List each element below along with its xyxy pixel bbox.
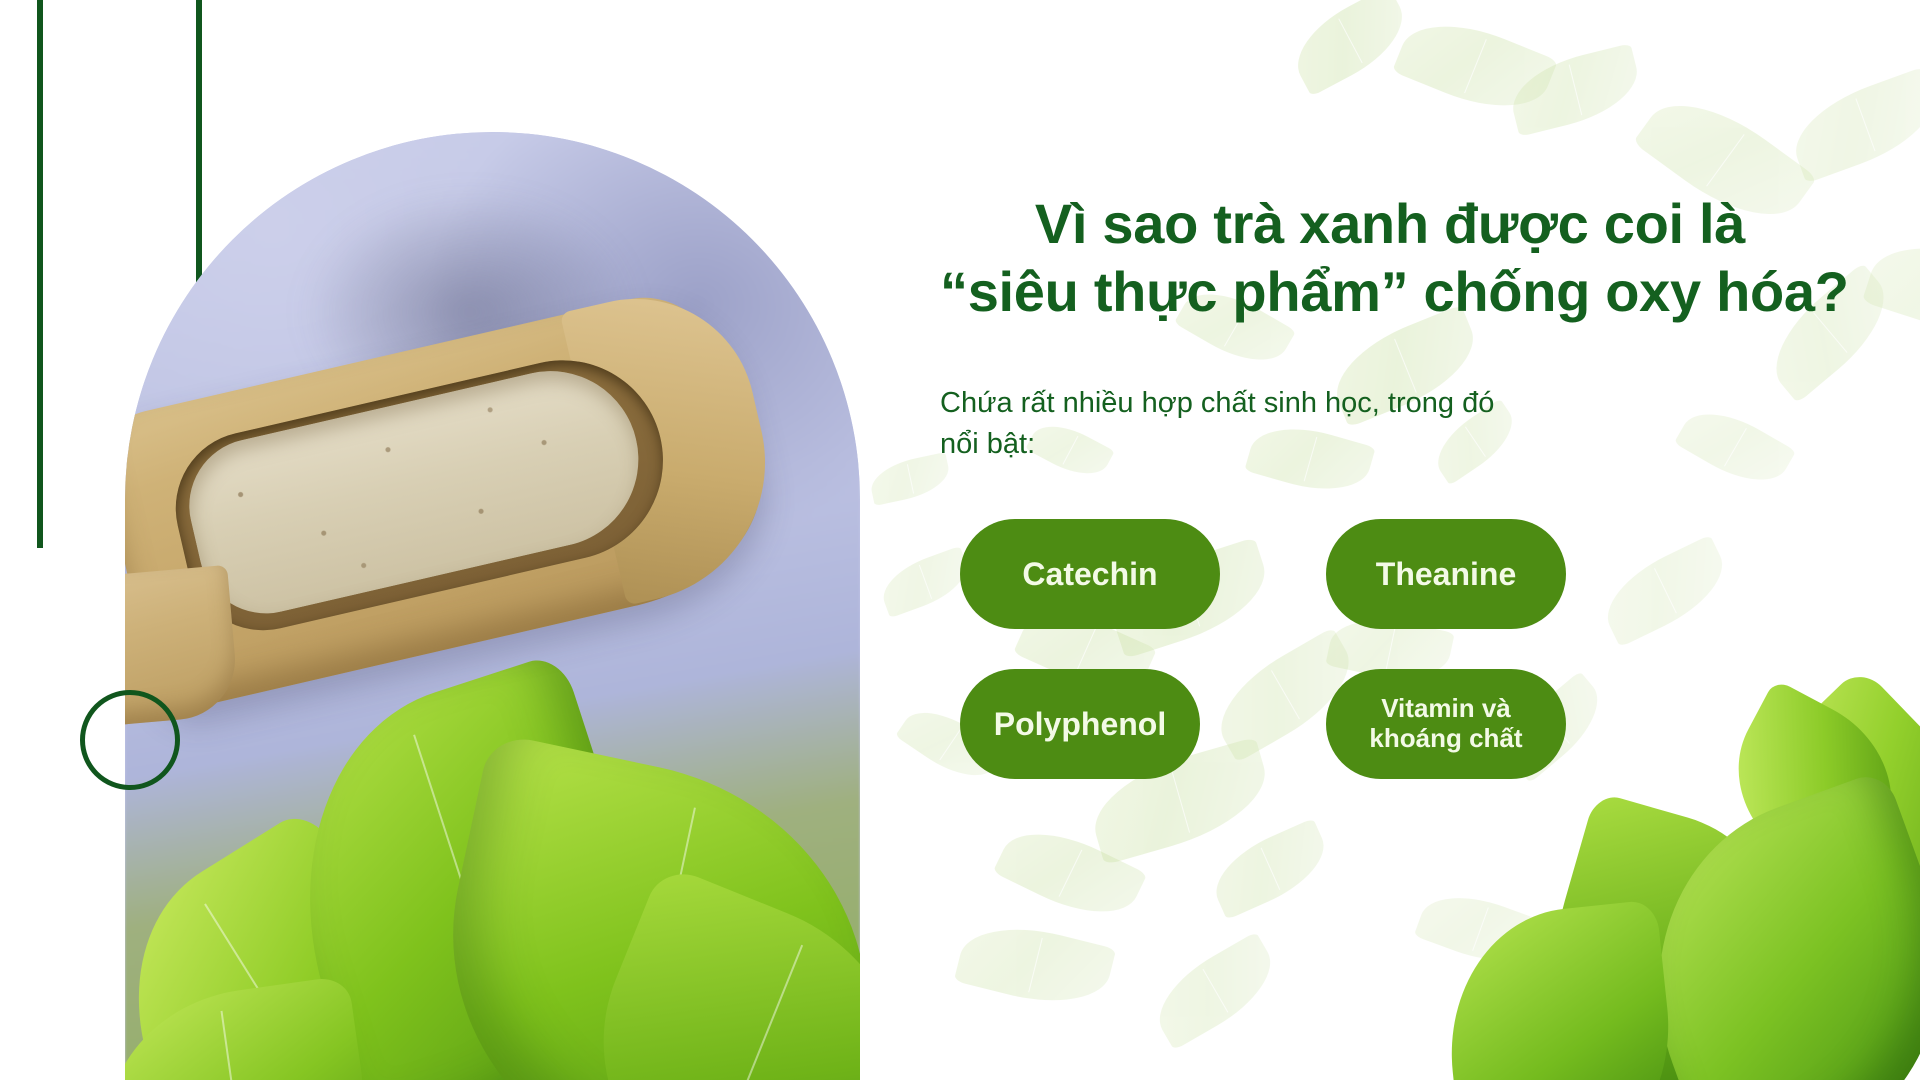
leaf-vein xyxy=(1338,19,1362,63)
left-arch-image xyxy=(125,132,860,1080)
leaf-vein xyxy=(1569,65,1582,115)
pill-label-line-1: Vitamin và xyxy=(1369,694,1522,724)
title-line-2: “siêu thực phẩm” chống oxy hóa? xyxy=(940,258,1840,326)
pill-label: Catechin xyxy=(1022,556,1157,593)
pill-vitamin-minerals[interactable]: Vitamin và khoáng chất xyxy=(1326,669,1566,779)
leaf-vein xyxy=(907,464,914,494)
pill-catechin[interactable]: Catechin xyxy=(960,519,1220,629)
leaf-vein xyxy=(1203,969,1229,1012)
subtitle-line-1: Chứa rất nhiều hợp chất sinh học, trong … xyxy=(940,383,1540,424)
leaf-vein xyxy=(1058,849,1082,897)
pill-polyphenol[interactable]: Polyphenol xyxy=(960,669,1200,779)
title-line-1: Vì sao trà xanh được coi là xyxy=(940,190,1840,258)
subtitle: Chứa rất nhiều hợp chất sinh học, trong … xyxy=(940,383,1540,465)
leaf-watermark xyxy=(1282,0,1417,97)
leaf-watermark xyxy=(1203,818,1336,920)
leaf-vein xyxy=(1261,847,1281,890)
page-title: Vì sao trà xanh được coi là “siêu thực p… xyxy=(940,190,1840,327)
content-column: Vì sao trà xanh được coi là “siêu thực p… xyxy=(940,190,1860,779)
leaf-vein xyxy=(1464,39,1487,93)
pill-label: Polyphenol xyxy=(994,706,1166,743)
vertical-rule-left xyxy=(37,0,43,548)
photo-leaf xyxy=(1437,899,1683,1080)
circle-outline-decoration xyxy=(80,690,180,790)
slide-canvas: Vì sao trà xanh được coi là “siêu thực p… xyxy=(0,0,1920,1080)
leaf-vein xyxy=(1706,134,1744,186)
leaf-vein xyxy=(1855,98,1875,151)
leaf-vein xyxy=(919,565,932,598)
pill-label: Theanine xyxy=(1376,556,1516,593)
subtitle-line-2: nổi bật: xyxy=(940,424,1540,465)
leaf-watermark xyxy=(954,913,1116,1017)
pill-label-wrap: Vitamin và khoáng chất xyxy=(1369,694,1522,754)
leaf-vein xyxy=(1028,938,1043,993)
compound-pill-grid: Catechin Theanine Polyphenol Vitamin và … xyxy=(960,519,1600,779)
leaf-watermark xyxy=(1783,66,1920,183)
pill-theanine[interactable]: Theanine xyxy=(1326,519,1566,629)
pill-label-line-2: khoáng chất xyxy=(1369,724,1522,754)
leaf-watermark xyxy=(1143,932,1287,1051)
